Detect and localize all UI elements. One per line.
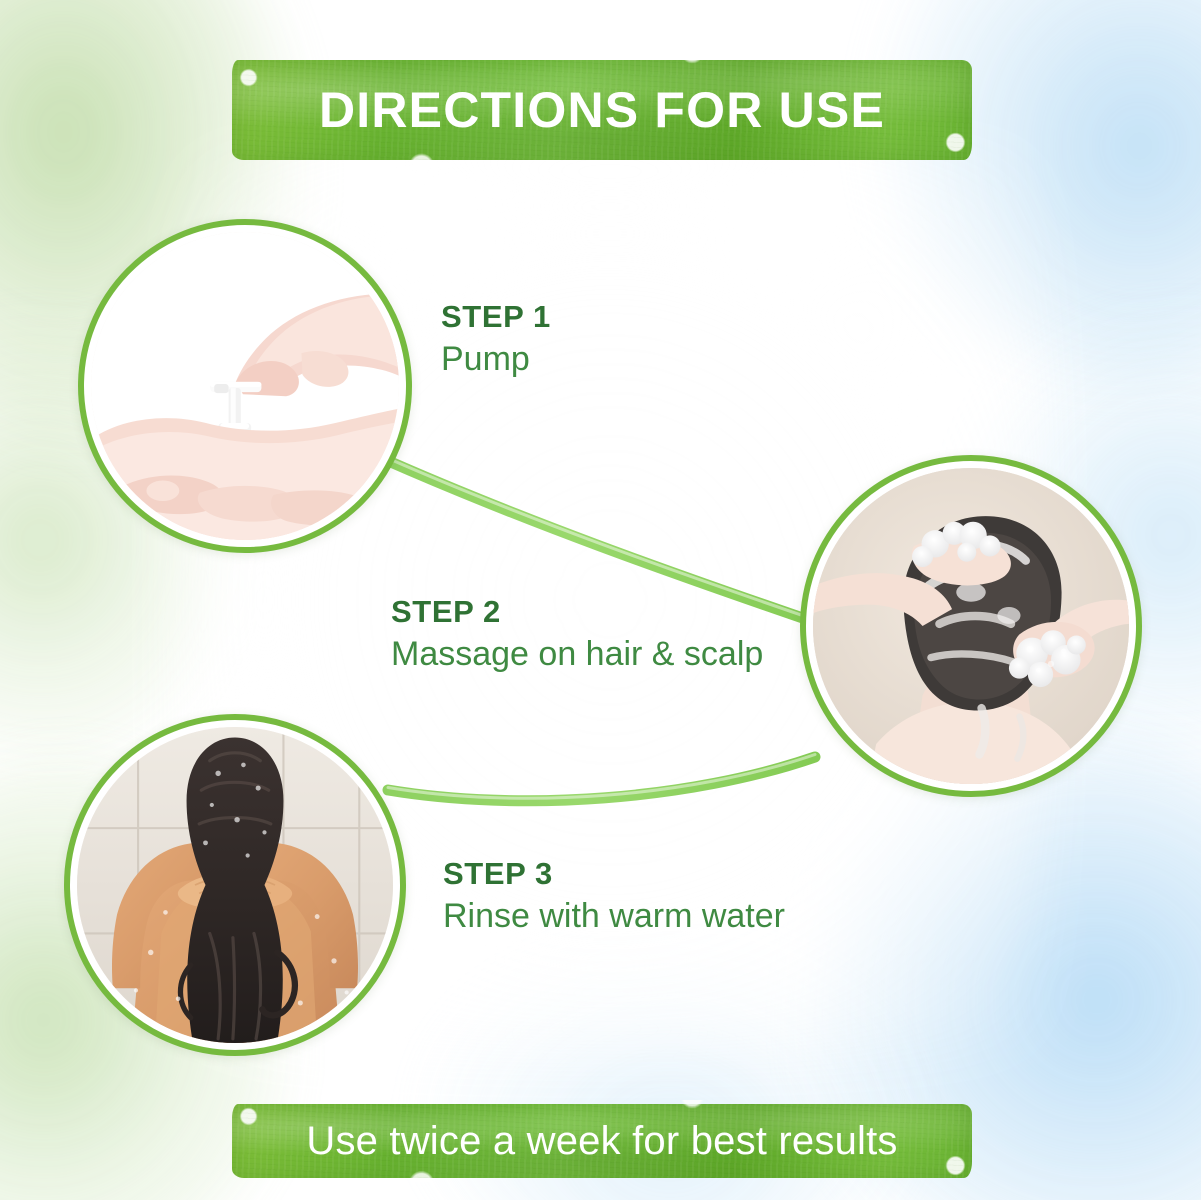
step-3-description: Rinse with warm water [443,896,785,937]
step-1-title: STEP 1 [441,300,551,333]
footer-banner: Use twice a week for best results [232,1104,972,1178]
step-2-description: Massage on hair & scalp [391,634,763,675]
step-3-label-block: STEP 3 Rinse with warm water [443,857,785,937]
step-3-title: STEP 3 [443,857,785,890]
step-1-description: Pump [441,339,551,380]
connector-step2-to-step3 [388,757,815,801]
connector-step2-to-step3-highlight [388,755,815,799]
watercolor-wash-blue-top-right [881,0,1201,380]
step-2-label-block: STEP 2 Massage on hair & scalp [391,595,763,675]
footer-text: Use twice a week for best results [306,1119,897,1164]
directions-for-use-infographic: DIRECTIONS FOR USE [0,0,1201,1200]
page-title: DIRECTIONS FOR USE [319,81,885,139]
step-2-photo-circle [800,455,1142,797]
step-2-title: STEP 2 [391,595,763,628]
page-title-banner: DIRECTIONS FOR USE [232,60,972,160]
step-1-photo-circle [78,219,412,553]
woman-rinsing-long-hair-in-shower-image [77,727,393,1043]
hands-pressing-pump-dispenser-image [91,232,399,540]
step-1-label-block: STEP 1 Pump [441,300,551,380]
step-3-photo-circle [64,714,406,1056]
hands-lathering-shampoo-on-scalp-image [813,468,1129,784]
